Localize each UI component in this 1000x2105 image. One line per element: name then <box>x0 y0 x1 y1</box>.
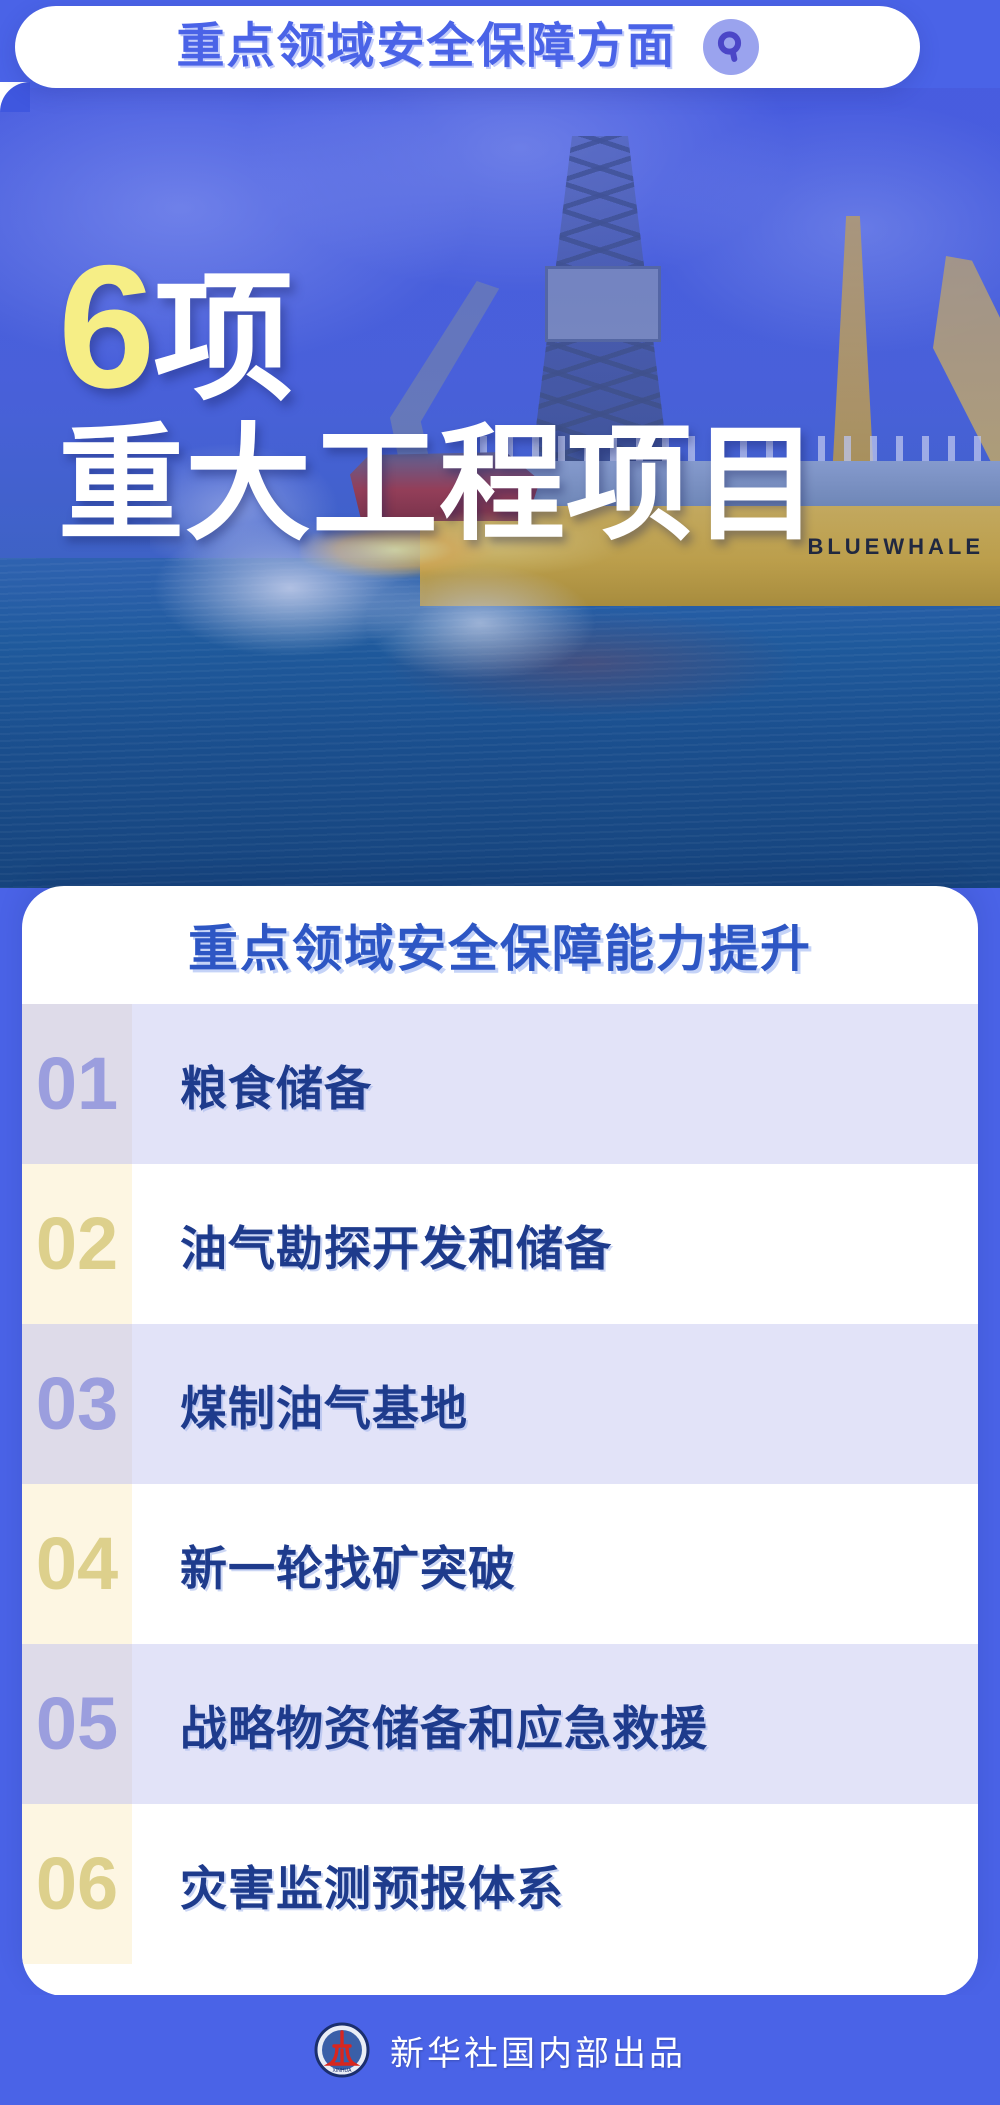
topic-badge-label: 重点领域安全保障方面 <box>176 23 676 71</box>
item-label: 煤制油气基地 <box>132 1324 978 1484</box>
topic-badge[interactable]: 重点领域安全保障方面 <box>15 6 920 88</box>
xinhua-logo: XINHUA <box>314 2022 370 2078</box>
list-item[interactable]: 03 煤制油气基地 <box>22 1324 978 1484</box>
item-number: 04 <box>22 1484 132 1644</box>
footer-text: 新华社国内部出品 <box>390 2026 686 2075</box>
list-item[interactable]: 05 战略物资储备和应急救援 <box>22 1644 978 1804</box>
list-item[interactable]: 06 灾害监测预报体系 <box>22 1804 978 1964</box>
list-item[interactable]: 02 油气勘探开发和储备 <box>22 1164 978 1324</box>
badge-corner-notch <box>0 82 30 112</box>
headline-block: 6项 重大工程项目 <box>58 245 820 552</box>
item-label: 灾害监测预报体系 <box>132 1804 978 1964</box>
headline-line1: 6项 <box>58 245 820 411</box>
card-title: 重点领域安全保障能力提升 <box>22 886 978 1004</box>
item-label: 战略物资储备和应急救援 <box>132 1644 978 1804</box>
svg-text:XINHUA: XINHUA <box>333 2068 353 2074</box>
item-number: 02 <box>22 1164 132 1324</box>
item-number: 03 <box>22 1324 132 1484</box>
item-number: 06 <box>22 1804 132 1964</box>
items-list: 01 粮食储备 02 油气勘探开发和储备 03 煤制油气基地 04 新一轮找矿突… <box>22 1004 978 1964</box>
item-label: 新一轮找矿突破 <box>132 1484 978 1644</box>
list-item[interactable]: 04 新一轮找矿突破 <box>22 1484 978 1644</box>
infographic-poster: BLUEWHALE 6项 重大工程项目 重点领域安全保障方面 重点领域安全保 <box>0 0 1000 2105</box>
item-number: 05 <box>22 1644 132 1804</box>
item-label: 油气勘探开发和储备 <box>132 1164 978 1324</box>
footer: XINHUA 新华社国内部出品 <box>0 1995 1000 2105</box>
headline-number: 6 <box>58 230 153 425</box>
item-number: 01 <box>22 1004 132 1164</box>
content-card: 重点领域安全保障能力提升 01 粮食储备 02 油气勘探开发和储备 03 煤制油… <box>22 886 978 1996</box>
item-label: 粮食储备 <box>132 1004 978 1164</box>
search-icon <box>703 19 759 75</box>
headline-number-unit: 项 <box>153 260 291 417</box>
list-item[interactable]: 01 粮食储备 <box>22 1004 978 1164</box>
headline-line2: 重大工程项目 <box>58 419 820 551</box>
